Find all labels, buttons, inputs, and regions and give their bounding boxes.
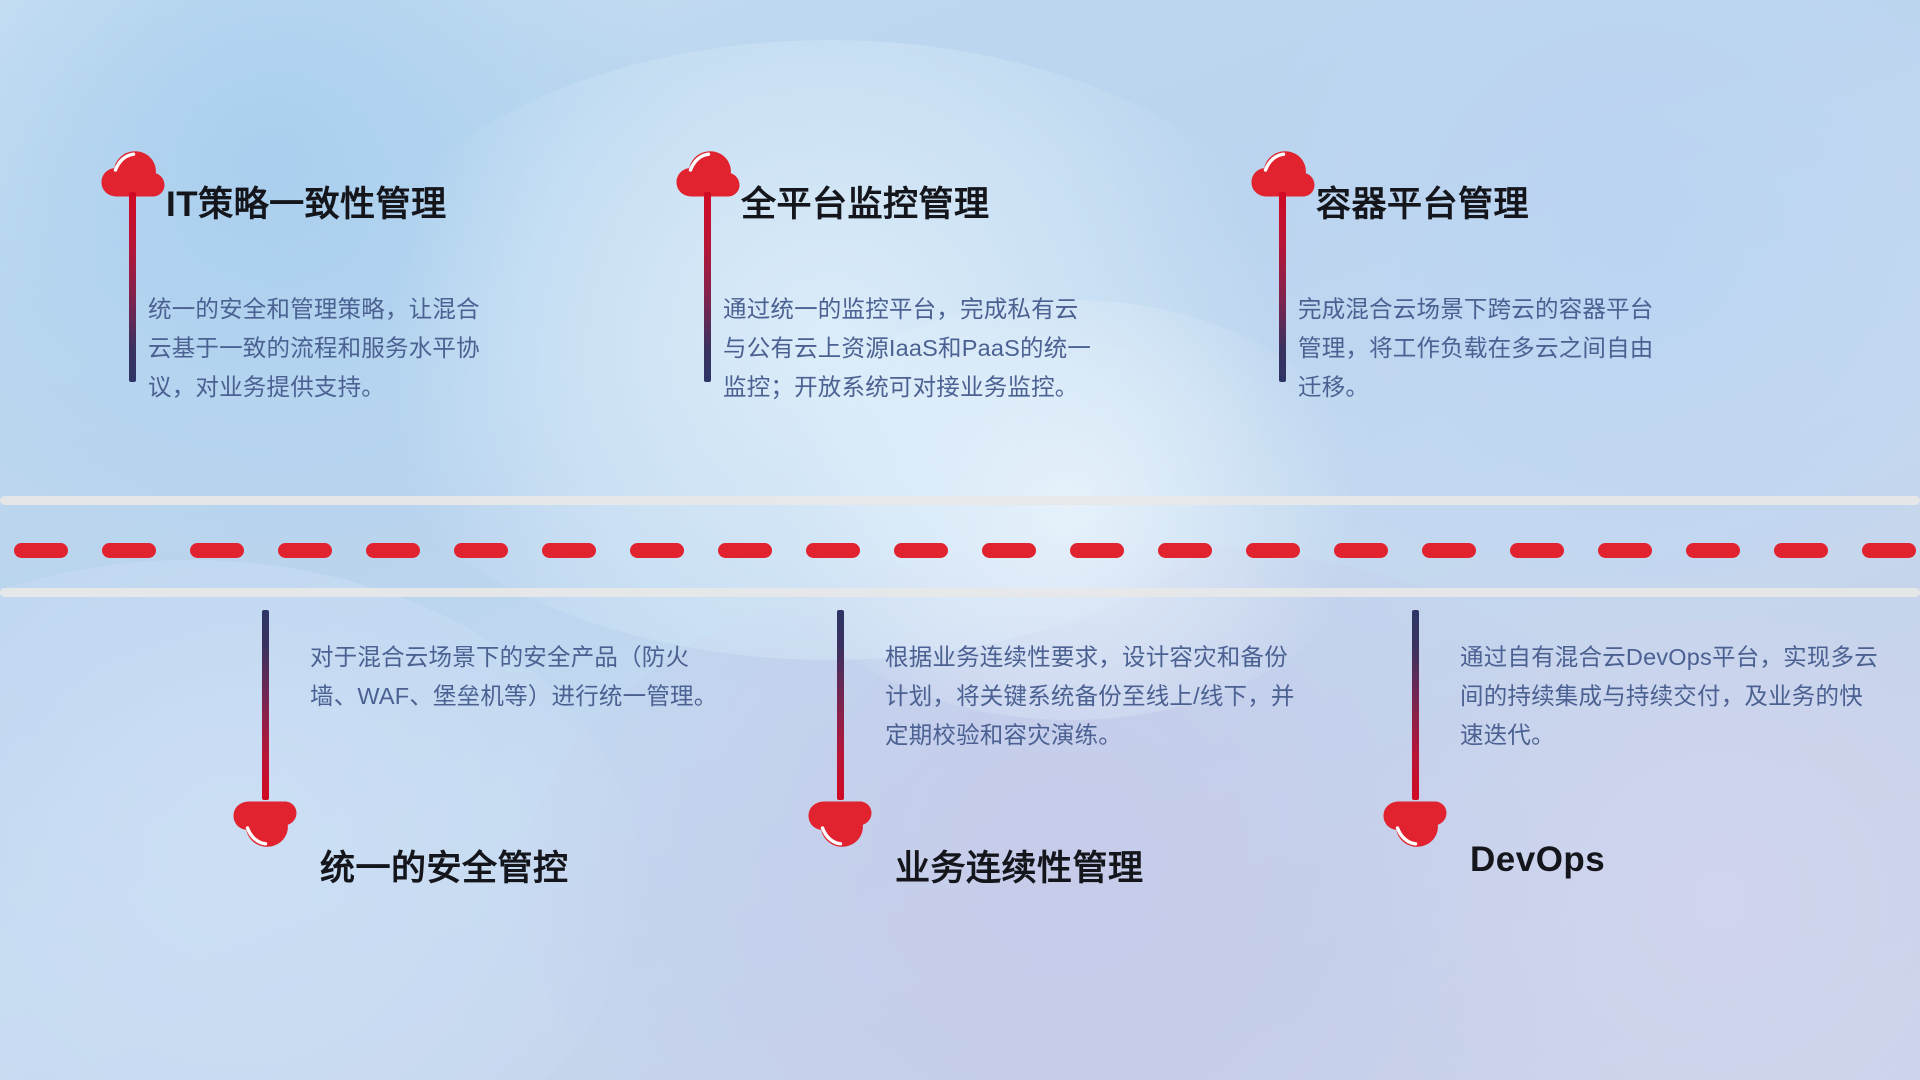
feature-description: 对于混合云场景下的安全产品（防火墙、WAF、堡垒机等）进行统一管理。 [310,638,730,716]
road-dash [278,543,332,558]
feature-description: 统一的安全和管理策略，让混合云基于一致的流程和服务水平协议，对业务提供支持。 [148,290,503,407]
road-dash [542,543,596,558]
connector-line [129,192,136,382]
feature-description: 通过统一的监控平台，完成私有云与公有云上资源IaaS和PaaS的统一监控；开放系… [723,290,1093,407]
background-bloom [520,540,1720,1080]
feature-heading: IT策略一致性管理 [166,176,447,227]
road-dash [1686,543,1740,558]
infographic-poster: IT策略一致性管理 统一的安全和管理策略，让混合云基于一致的流程和服务水平协议，… [0,0,1920,1080]
cloud-icon [1250,150,1316,198]
cloud-icon [100,150,166,198]
road-dash [1598,543,1652,558]
feature-heading: 全平台监控管理 [741,176,990,227]
feature-description: 根据业务连续性要求，设计容灾和备份计划，将关键系统备份至线上/线下，并定期校验和… [885,638,1305,755]
connector-line [1412,610,1419,800]
road-dash [1862,543,1916,558]
connector-line [837,610,844,800]
road-rail-top [0,496,1920,505]
road-dash [982,543,1036,558]
cloud-icon [675,150,741,198]
feature-description: 完成混合云场景下跨云的容器平台管理，将工作负载在多云之间自由迁移。 [1298,290,1668,407]
road-dash [366,543,420,558]
feature-heading: 业务连续性管理 [895,840,1144,891]
cloud-icon [807,800,873,848]
road-dash [1334,543,1388,558]
feature-heading: 容器平台管理 [1316,176,1529,227]
road-dash [718,543,772,558]
road-dash [102,543,156,558]
road-dash [806,543,860,558]
road-dashed-centerline [0,542,1920,558]
road-dash [14,543,68,558]
cloud-icon [232,800,298,848]
road-dash [1158,543,1212,558]
road-dash [1510,543,1564,558]
road-dash [454,543,508,558]
feature-description: 通过自有混合云DevOps平台，实现多云间的持续集成与持续交付，及业务的快速迭代… [1460,638,1880,755]
road-rail-bottom [0,588,1920,597]
road-dash [190,543,244,558]
road-dash [1774,543,1828,558]
road-dash [1246,543,1300,558]
road-dash [1422,543,1476,558]
cloud-icon [1382,800,1448,848]
connector-line [1279,192,1286,382]
road-dash [1070,543,1124,558]
feature-heading: 统一的安全管控 [320,840,569,891]
background-bloom [0,0,720,540]
feature-heading: DevOps [1470,840,1605,880]
connector-line [262,610,269,800]
connector-line [704,192,711,382]
road-dash [894,543,948,558]
road-dash [630,543,684,558]
